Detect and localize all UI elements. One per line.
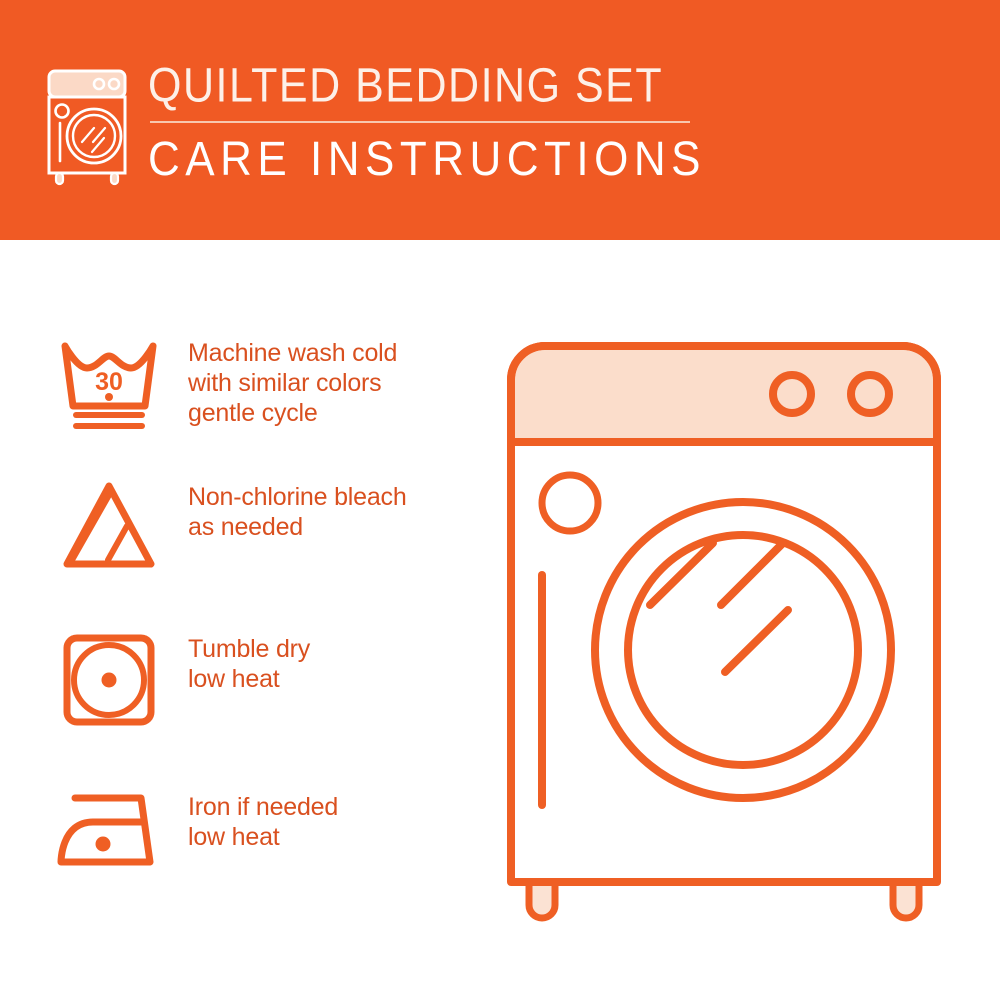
header-banner: QUILTED BEDDING SET CARE INSTRUCTIONS — [0, 0, 1000, 240]
care-text-line: Machine wash cold — [188, 338, 397, 368]
care-text-line: Iron if needed — [188, 792, 338, 822]
washing-machine-icon — [44, 66, 130, 188]
non-chlorine-bleach-triangle-icon — [44, 478, 174, 572]
care-text-line: Non-chlorine bleach — [188, 482, 407, 512]
care-item-bleach: Non-chlorine bleach as needed — [44, 478, 474, 572]
iron-low-heat-icon — [44, 788, 174, 872]
header-title-block: QUILTED BEDDING SET CARE INSTRUCTIONS — [148, 58, 706, 182]
tumble-dry-low-heat-icon — [44, 630, 174, 730]
care-item-iron: Iron if needed low heat — [44, 788, 474, 872]
care-text-line: Tumble dry — [188, 634, 310, 664]
washing-machine-illustration — [495, 330, 975, 940]
care-item-machine-wash: 30 Machine wash cold with similar colors… — [44, 334, 474, 432]
header-content: QUILTED BEDDING SET CARE INSTRUCTIONS — [44, 58, 706, 188]
title-divider — [150, 121, 690, 123]
page-subtitle: CARE INSTRUCTIONS — [148, 132, 706, 187]
care-item-text: Tumble dry low heat — [188, 634, 310, 694]
wash-temperature-label: 30 — [95, 368, 123, 396]
machine-wash-30-gentle-icon: 30 — [44, 334, 174, 432]
machine-control-panel — [515, 350, 933, 442]
care-text-line: low heat — [188, 822, 338, 852]
care-item-tumble-dry: Tumble dry low heat — [44, 630, 474, 730]
page-title: QUILTED BEDDING SET — [148, 58, 706, 114]
care-instructions-list: 30 Machine wash cold with similar colors… — [0, 240, 480, 1000]
care-item-text: Iron if needed low heat — [188, 792, 338, 852]
care-text-line: as needed — [188, 512, 407, 542]
care-item-text: Machine wash cold with similar colors ge… — [188, 338, 397, 428]
care-text-line: low heat — [188, 664, 310, 694]
care-item-text: Non-chlorine bleach as needed — [188, 482, 407, 542]
care-text-line: gentle cycle — [188, 398, 397, 428]
care-text-line: with similar colors — [188, 368, 397, 398]
